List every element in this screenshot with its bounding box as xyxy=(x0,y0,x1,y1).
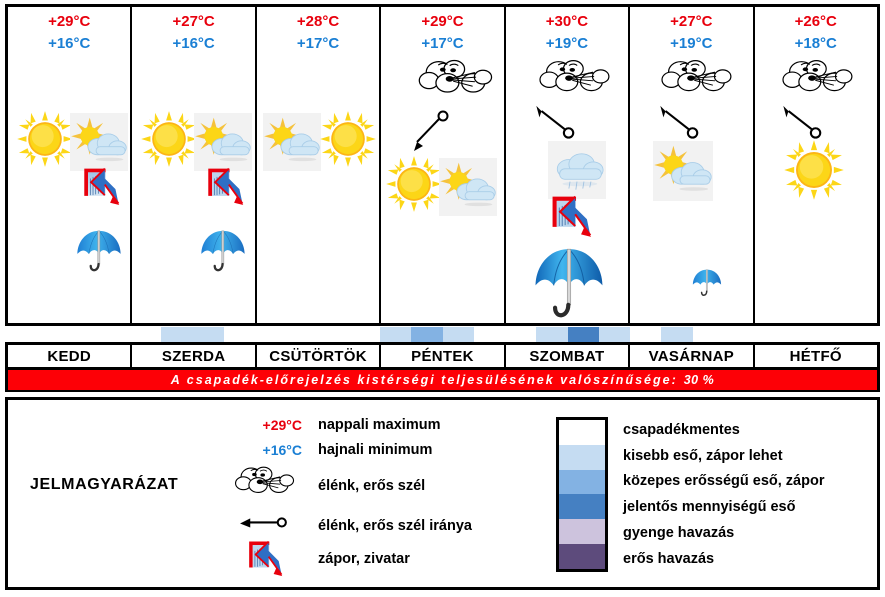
wind-arrow-icon xyxy=(652,103,704,146)
temperature-pair: +29°C +16°C xyxy=(8,11,130,55)
sun-behind-cloud-icon xyxy=(652,141,714,206)
day-label-pentek[interactable]: PÉNTEK xyxy=(381,345,505,367)
precip-segment xyxy=(786,327,817,342)
max-temperature: +29°C xyxy=(381,11,503,33)
max-temperature: +27°C xyxy=(630,11,752,33)
sun-icon xyxy=(319,110,377,173)
legend-panel: JELMAGYARÁZAT +29°C nappali maximum +16°… xyxy=(5,397,880,590)
legend-item-label: élénk, erős szél iránya xyxy=(318,518,472,534)
umbrella-medium-icon xyxy=(76,227,122,284)
precipitation-probability-banner: A csapadék-előrejelzés kistérségi teljes… xyxy=(5,370,880,392)
day-column-vasarnap[interactable]: +27°C +19°C xyxy=(630,7,754,323)
precip-segment xyxy=(536,327,567,342)
precip-segment xyxy=(318,327,349,342)
weather-icon-stack xyxy=(506,55,628,321)
precip-cell-csutortok xyxy=(255,327,380,342)
legend-item-wind: élénk, erős szél xyxy=(223,462,543,510)
scale-swatch-heavy-snow xyxy=(559,544,605,569)
precip-segment xyxy=(474,327,505,342)
day-column-pentek[interactable]: +29°C +17°C xyxy=(381,7,505,323)
day-names-row: KEDD SZERDA CSÜTÖRTÖK PÉNTEK SZOMBAT VAS… xyxy=(5,342,880,370)
banner-percent: 30 % xyxy=(684,373,715,387)
precip-segment xyxy=(255,327,286,342)
scale-label: jelentős mennyiségű eső xyxy=(623,494,883,520)
precip-segment xyxy=(724,327,755,342)
max-temperature: +28°C xyxy=(257,11,379,33)
scale-label: kisebb eső, zápor lehet xyxy=(623,443,883,469)
banner-text: A csapadék-előrejelzés kistérségi teljes… xyxy=(171,373,678,387)
legend-title: JELMAGYARÁZAT xyxy=(30,476,178,494)
scale-swatch-light-rain xyxy=(559,445,605,470)
sun-behind-cloud-icon xyxy=(439,158,497,221)
precip-segment xyxy=(411,327,442,342)
sun-icon xyxy=(140,110,198,173)
legend-item-label: nappali maximum xyxy=(318,417,440,433)
min-temperature: +16°C xyxy=(8,33,130,55)
scale-label: gyenge havazás xyxy=(623,520,883,546)
min-temperature: +18°C xyxy=(755,33,877,55)
temperature-pair: +29°C +17°C xyxy=(381,11,503,55)
scale-swatch-none xyxy=(559,420,605,445)
sun-icon xyxy=(16,110,74,173)
min-temperature: +17°C xyxy=(381,33,503,55)
precip-segment xyxy=(443,327,474,342)
weather-icon-stack xyxy=(8,55,130,321)
temperature-pair: +28°C +17°C xyxy=(257,11,379,55)
weather-icon-stack xyxy=(381,55,503,321)
wind-face-icon xyxy=(223,463,318,509)
precip-segment xyxy=(755,327,786,342)
wind-arrow-icon xyxy=(403,107,455,162)
precip-segment xyxy=(849,327,880,342)
temperature-pair: +27°C +19°C xyxy=(630,11,752,55)
umbrella-large-icon xyxy=(528,245,610,328)
temperature-pair: +30°C +19°C xyxy=(506,11,628,55)
legend-symbol-list: +29°C nappali maximum +16°C hajnali mini… xyxy=(223,412,543,576)
legend-max-temp-value: +29°C xyxy=(223,417,318,433)
precip-segment xyxy=(568,327,599,342)
scale-swatch-light-snow xyxy=(559,519,605,544)
weather-icon-stack xyxy=(132,55,254,321)
wind-arrow-icon xyxy=(223,514,318,538)
day-label-szombat[interactable]: SZOMBAT xyxy=(506,345,630,367)
precip-segment xyxy=(99,327,130,342)
min-temperature: +19°C xyxy=(630,33,752,55)
precip-segment xyxy=(5,327,36,342)
legend-item-min-temp: +16°C hajnali minimum xyxy=(223,437,543,462)
legend-item-label: zápor, zivatar xyxy=(318,551,410,567)
day-column-hetfo[interactable]: +26°C +18°C xyxy=(755,7,877,323)
scale-swatch-heavy-rain xyxy=(559,494,605,519)
precip-segment xyxy=(36,327,67,342)
min-temperature: +16°C xyxy=(132,33,254,55)
precip-cell-kedd xyxy=(5,327,130,342)
scale-swatch-moderate-rain xyxy=(559,470,605,495)
weather-icon-stack xyxy=(755,55,877,321)
scale-label: közepes erősségű eső, zápor xyxy=(623,469,883,495)
legend-item-label: hajnali minimum xyxy=(318,442,432,458)
precipitation-color-scale xyxy=(556,417,608,572)
umbrella-small-icon xyxy=(692,267,722,306)
shower-thunderstorm-icon xyxy=(550,195,592,244)
precip-segment xyxy=(68,327,99,342)
precip-cell-pentek xyxy=(380,327,505,342)
scale-label: csapadékmentes xyxy=(623,417,883,443)
max-temperature: +29°C xyxy=(8,11,130,33)
shower-thunderstorm-icon xyxy=(223,540,318,578)
weather-forecast-panel: +29°C +16°C xyxy=(0,0,885,597)
day-label-hetfo[interactable]: HÉTFŐ xyxy=(755,345,877,367)
max-temperature: +30°C xyxy=(506,11,628,33)
precip-cell-hetfo xyxy=(755,327,880,342)
precip-segment xyxy=(380,327,411,342)
weather-icon-stack xyxy=(630,55,752,321)
legend-item-shower: zápor, zivatar xyxy=(223,542,543,576)
legend-item-max-temp: +29°C nappali maximum xyxy=(223,412,543,437)
day-label-vasarnap[interactable]: VASÁRNAP xyxy=(630,345,754,367)
precip-segment xyxy=(224,327,255,342)
precip-segment xyxy=(161,327,192,342)
precip-segment xyxy=(130,327,161,342)
wind-arrow-icon xyxy=(528,103,580,146)
precip-cell-szerda xyxy=(130,327,255,342)
temperature-pair: +27°C +16°C xyxy=(132,11,254,55)
day-column-szerda[interactable]: +27°C +16°C xyxy=(132,7,256,323)
precipitation-scale-labels: csapadékmentes kisebb eső, zápor lehet k… xyxy=(623,417,883,572)
precip-segment xyxy=(349,327,380,342)
legend-item-wind-direction: élénk, erős szél iránya xyxy=(223,510,543,542)
precip-segment xyxy=(193,327,224,342)
precip-segment xyxy=(693,327,724,342)
day-label-szerda[interactable]: SZERDA xyxy=(132,345,256,367)
sun-behind-cloud-icon xyxy=(263,113,321,176)
precip-segment xyxy=(286,327,317,342)
legend-min-temp-value: +16°C xyxy=(223,442,318,458)
precip-segment xyxy=(630,327,661,342)
precip-segment xyxy=(661,327,692,342)
max-temperature: +26°C xyxy=(755,11,877,33)
precipitation-strip xyxy=(5,327,880,342)
day-label-kedd[interactable]: KEDD xyxy=(8,345,132,367)
shower-thunderstorm-icon xyxy=(206,167,244,212)
max-temperature: +27°C xyxy=(132,11,254,33)
shower-thunderstorm-icon xyxy=(82,167,120,212)
sun-icon xyxy=(385,155,443,218)
weather-icon-stack xyxy=(257,55,379,321)
umbrella-medium-icon xyxy=(200,227,246,284)
precip-segment xyxy=(599,327,630,342)
day-column-szombat[interactable]: +30°C +19°C xyxy=(506,7,630,323)
day-label-csutortok[interactable]: CSÜTÖRTÖK xyxy=(257,345,381,367)
day-column-csutortok[interactable]: +28°C +17°C xyxy=(257,7,381,323)
legend-item-label: élénk, erős szél xyxy=(318,478,425,494)
min-temperature: +17°C xyxy=(257,33,379,55)
sun-icon xyxy=(783,139,845,206)
precip-segment xyxy=(505,327,536,342)
precip-cell-szombat xyxy=(505,327,630,342)
scale-label: erős havazás xyxy=(623,546,883,572)
min-temperature: +19°C xyxy=(506,33,628,55)
precip-cell-vasarnap xyxy=(630,327,755,342)
temperature-pair: +26°C +18°C xyxy=(755,11,877,55)
day-column-kedd[interactable]: +29°C +16°C xyxy=(8,7,132,323)
precip-segment xyxy=(818,327,849,342)
forecast-grid: +29°C +16°C xyxy=(5,4,880,326)
